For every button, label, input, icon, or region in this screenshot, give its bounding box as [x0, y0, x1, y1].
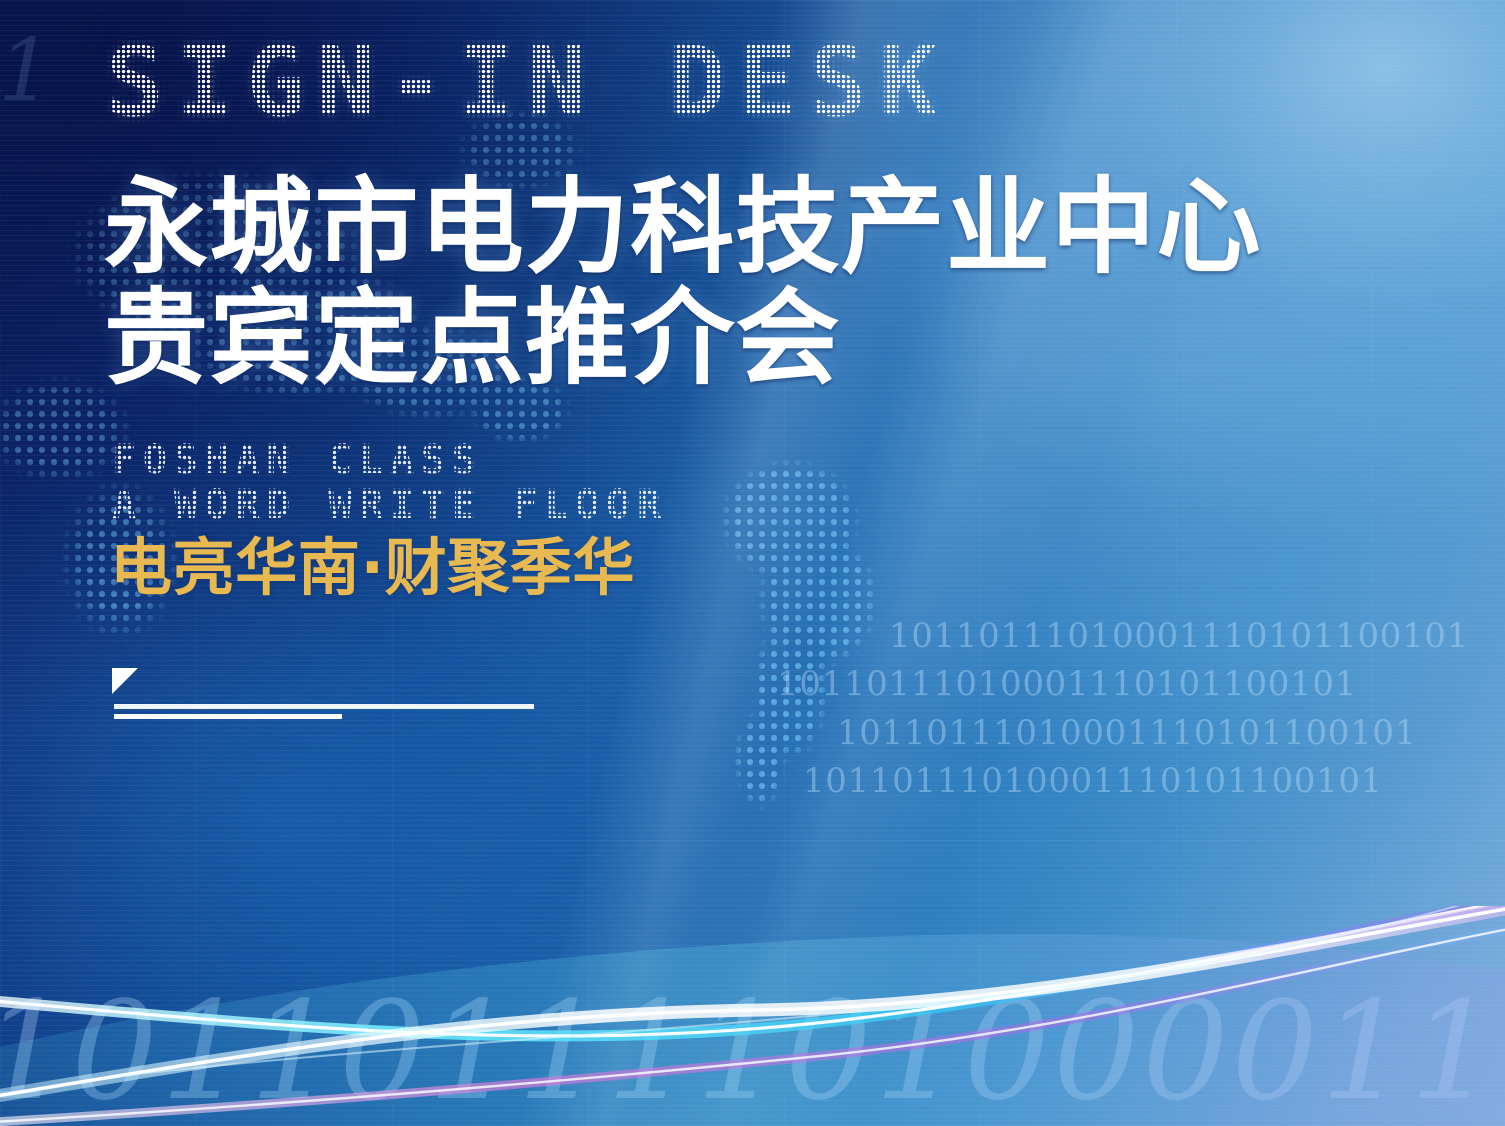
decorative-rule [106, 668, 536, 726]
gold-tagline: 电亮华南·财聚季华 [110, 537, 635, 599]
english-subline-1: FOSHAN CLASS [112, 440, 483, 480]
background-stray-digit: 1 [0, 28, 53, 114]
binary-row: 10110111010001110101100101 [777, 757, 1383, 805]
binary-row: 10110111010001110101100101 [777, 709, 1417, 757]
headline-line-1: 永城市电力科技产业中心 [104, 172, 1354, 283]
giant-binary-strip: 1011011110100001110101 [0, 984, 1505, 1120]
event-poster: 1 SIGN-IN DESK 永城市电力科技产业中心 贵宾定点推介会 FOSHA… [0, 0, 1505, 1126]
page-title: 永城市电力科技产业中心 贵宾定点推介会 [104, 172, 1354, 395]
triangle-flag-icon [112, 668, 138, 694]
headline-line-2: 贵宾定点推介会 [104, 283, 1354, 394]
binary-row: 10110111010001110101100101 [777, 660, 1357, 708]
kicker-sign-in-desk: SIGN-IN DESK [106, 34, 949, 130]
english-subline-2: A WORD WRITE FLOOR [112, 485, 668, 525]
rule-line-top [114, 704, 534, 709]
binary-text-block: 10110111010001110101100101 1011011101000… [777, 612, 1475, 805]
rule-line-bottom [114, 714, 342, 719]
binary-row: 10110111010001110101100101 [777, 612, 1469, 660]
